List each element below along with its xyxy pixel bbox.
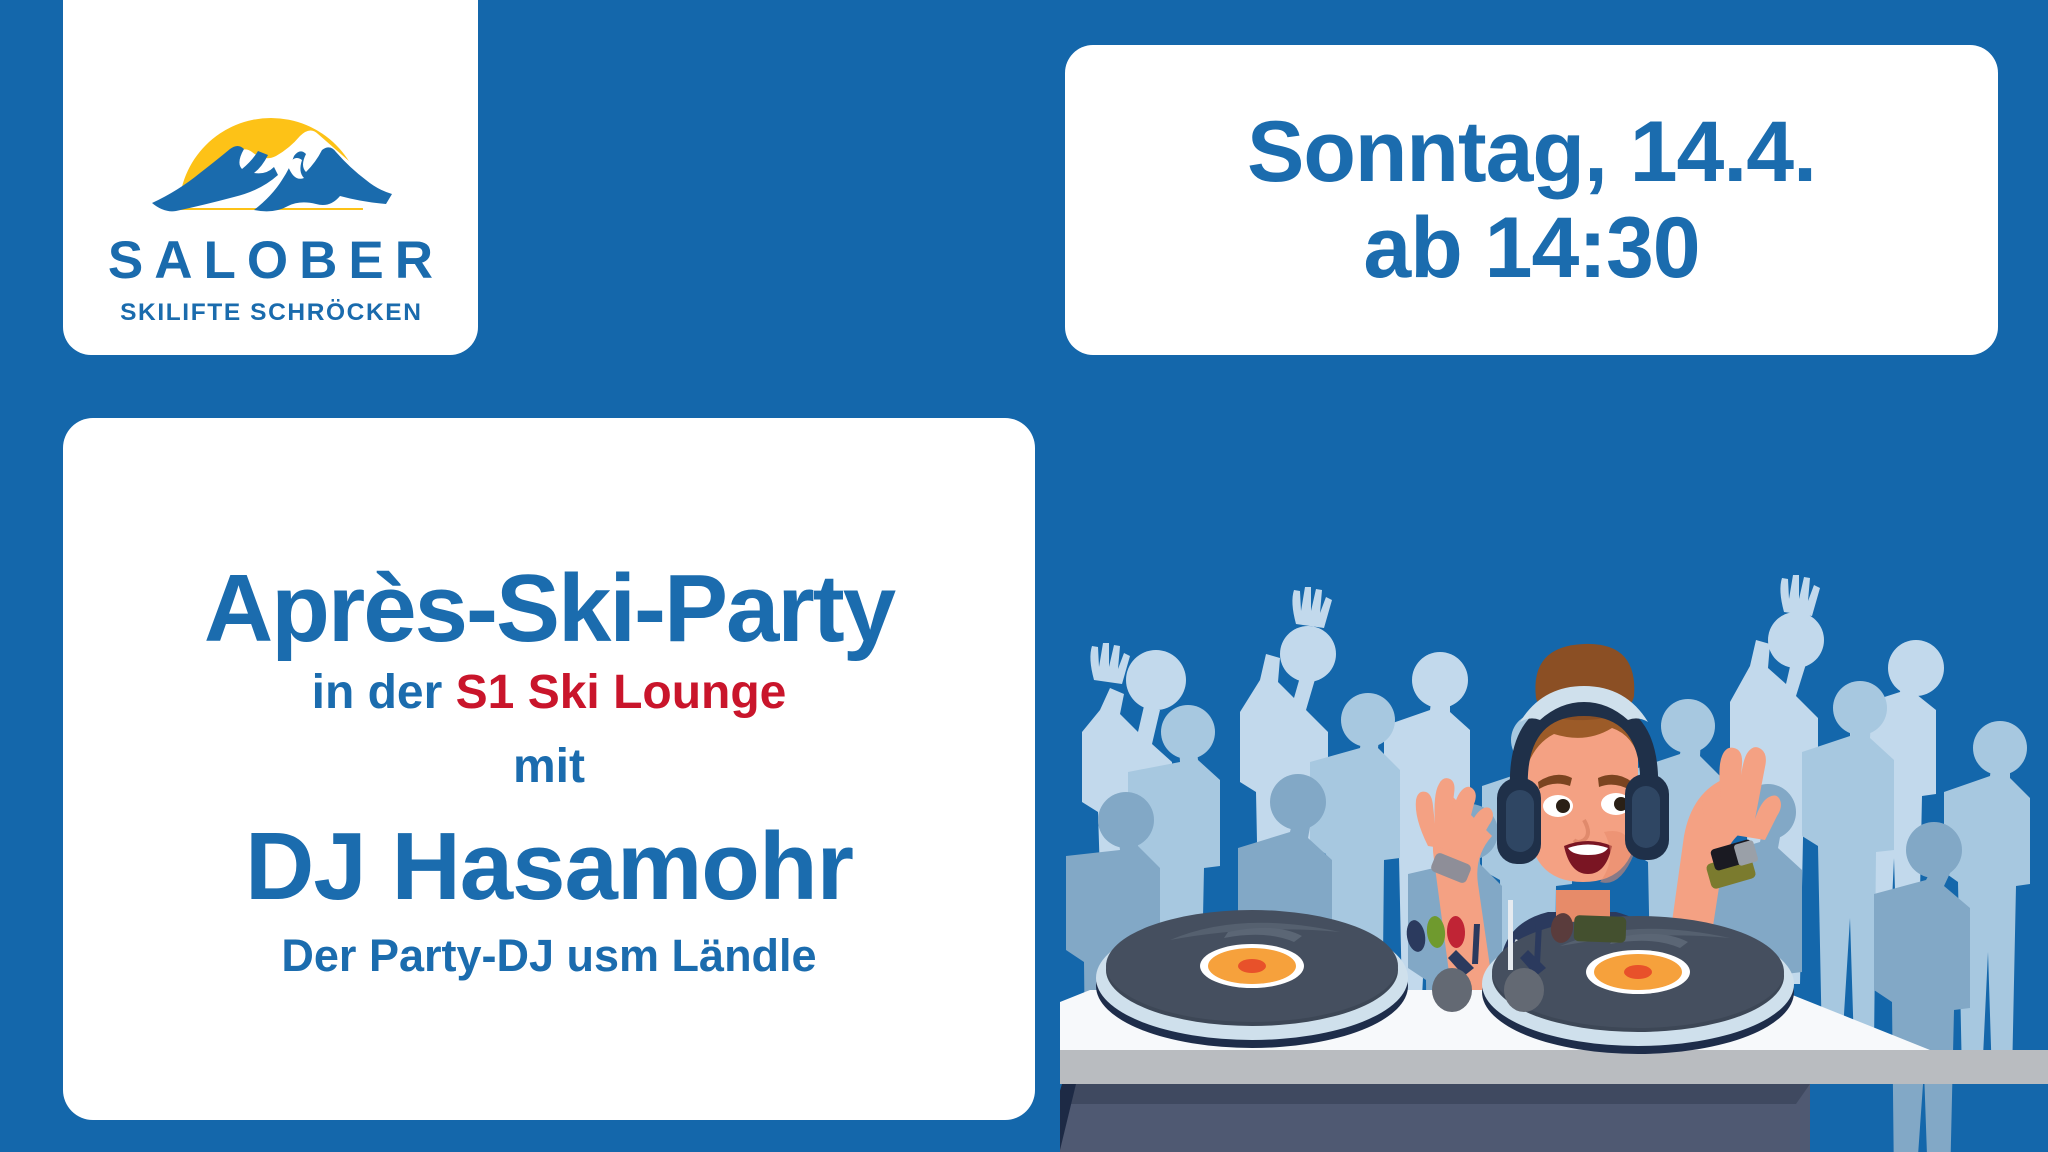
logo-subtitle: SKILIFTE SCHRÖCKEN	[119, 301, 423, 326]
logo-block: SALOBER SKILIFTE SCHRÖCKEN	[63, 58, 478, 326]
mixer-tonearm-weight-left	[1432, 968, 1472, 1012]
date-line-1: Sonntag, 14.4.	[1247, 104, 1816, 200]
event-title: Après-Ski-Party	[63, 561, 1035, 657]
mixer-tonearm-weight-right	[1504, 968, 1544, 1012]
dj-illustration	[1060, 380, 2048, 1152]
turntable-left	[1096, 910, 1408, 1048]
artist-tagline: Der Party-DJ usm Ländle	[63, 933, 1035, 978]
main-text-block: Après-Ski-Party in der S1 Ski Lounge mit…	[63, 561, 1035, 978]
date-text-block: Sonntag, 14.4. ab 14:30	[1247, 104, 1816, 297]
venue-line: in der S1 Ski Lounge	[63, 669, 1035, 717]
booth-table-edge	[1060, 1050, 2048, 1084]
logo-card: SALOBER SKILIFTE SCHRÖCKEN	[63, 0, 478, 355]
date-card: Sonntag, 14.4. ab 14:30	[1065, 45, 1998, 355]
logo-wordmark: SALOBER	[97, 234, 444, 287]
poster-canvas: SALOBER SKILIFTE SCHRÖCKEN Sonntag, 14.4…	[0, 0, 2048, 1152]
artist-name: DJ Hasamohr	[63, 819, 1035, 915]
venue-prefix: in der	[312, 666, 456, 719]
venue-name: S1 Ski Lounge	[456, 666, 787, 719]
connector-label: mit	[63, 743, 1035, 791]
sun-over-mountains-logo-icon	[146, 58, 396, 228]
date-line-2: ab 14:30	[1247, 200, 1816, 296]
main-info-card: Après-Ski-Party in der S1 Ski Lounge mit…	[63, 418, 1035, 1120]
